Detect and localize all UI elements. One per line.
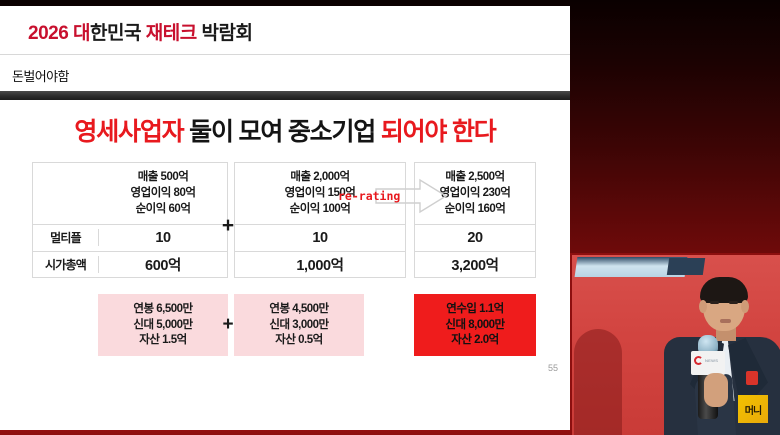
slide-heading-part-2: 중소기업 — [288, 118, 381, 146]
company-3-metric-2: 순이익 160억 — [445, 202, 506, 217]
highlight-2-line-0: 연봉 4,500만 — [269, 302, 328, 317]
slide-heading-part-3: 되어야 한다 — [381, 118, 496, 146]
company-1-metric-1: 영업이익 80억 — [131, 186, 196, 201]
highlight-boxes: 연봉 6,500만 신대 5,000만 자산 1.5억 + 연봉 4,500만 … — [32, 294, 536, 356]
highlight-1-line-1: 신대 5,000만 — [133, 318, 192, 333]
channel-logo: 머니 — [738, 395, 768, 423]
highlight-3-line-2: 자산 2.0억 — [451, 333, 498, 348]
company-1-metrics: 매출 500억 영업이익 80억 순이익 60억 — [33, 163, 227, 225]
event-title-part-4: 박람회 — [197, 23, 253, 44]
market-cap-row-3: 3,200억 — [415, 251, 535, 278]
market-cap-row-1: 시가총액 600억 — [33, 251, 227, 278]
slide-heading-part-1: 둘이 모여 — [189, 118, 288, 146]
highlight-box-2: 연봉 4,500만 신대 3,000만 자산 0.5억 — [234, 294, 364, 356]
microphone-flag-logo-icon — [694, 356, 703, 365]
highlight-box-3: 연수입 1.1억 신대 8,000만 자산 2.0억 — [414, 294, 536, 356]
multiple-row-1: 멀티플 10 — [33, 225, 227, 251]
channel-logo-text: 머니 — [745, 402, 761, 417]
row-label-market-cap: 시가총액 — [33, 256, 99, 273]
company-2-metric-0: 매출 2,000억 — [290, 170, 349, 185]
speaker-mouth — [720, 319, 731, 323]
company-2-market-cap: 1,000억 — [235, 254, 405, 275]
highlight-1-line-2: 자산 1.5억 — [139, 333, 186, 348]
highlight-box-1: 연봉 6,500만 신대 5,000만 자산 1.5억 — [98, 294, 228, 356]
company-3-metric-0: 매출 2,500억 — [445, 170, 504, 185]
speaker-ear-left — [699, 300, 707, 313]
highlight-3-line-0: 연수입 1.1억 — [446, 302, 504, 317]
multiple-row-2: 10 — [235, 225, 405, 251]
row-label-multiple: 멀티플 — [33, 229, 99, 246]
highlight-3-line-1: 신대 8,000만 — [445, 318, 504, 333]
company-3-market-cap: 3,200억 — [415, 254, 535, 275]
presentation-slide: 2026 대한민국 재테크 박람회 돈벌어야함 영세사업자 둘이 모여 중소기업… — [0, 6, 570, 430]
event-title-part-0: 2026 — [28, 23, 73, 44]
company-1-multiple: 10 — [99, 230, 227, 246]
comparison-table: 매출 500억 영업이익 80억 순이익 60억 멀티플 10 시가총액 600… — [32, 162, 536, 278]
highlight-2-line-1: 신대 3,000만 — [269, 318, 328, 333]
company-3-multiple: 20 — [415, 230, 535, 246]
stage-banner-secondary — [667, 258, 705, 275]
speaker-eye-right — [729, 301, 738, 304]
video-player-stage: 2026 대한민국 재테크 박람회 돈벌어야함 영세사업자 둘이 모여 중소기업… — [0, 0, 780, 435]
company-2-metric-2: 순이익 100억 — [290, 202, 351, 217]
dark-band-divider — [0, 91, 570, 100]
slide-heading: 영세사업자 둘이 모여 중소기업 되어야 한다 — [0, 112, 570, 148]
speaker-ear-right — [741, 300, 749, 313]
market-cap-row-2: 1,000억 — [235, 251, 405, 278]
slide-heading-part-0: 영세사업자 — [74, 118, 189, 146]
company-3-metric-1: 영업이익 230억 — [440, 186, 511, 201]
event-title-part-3: 재테크 — [146, 23, 197, 44]
company-1-metric-2: 순이익 60억 — [136, 202, 191, 217]
event-title: 2026 대한민국 재테크 박람회 — [28, 18, 252, 45]
sub-header-strip — [0, 55, 570, 91]
event-title-part-2: 한민국 — [90, 23, 146, 44]
microphone-flag-text: NEWS — [705, 358, 718, 363]
re-rating-label: re-rating — [338, 189, 400, 203]
speaker-picture-in-picture: NEWS 머니 — [570, 253, 780, 435]
company-2-multiple: 10 — [235, 230, 405, 246]
slide-page-number: 55 — [548, 363, 558, 373]
sub-header-label: 돈벌어야함 — [12, 66, 69, 85]
company-column-1: 매출 500억 영업이익 80억 순이익 60억 멀티플 10 시가총액 600… — [32, 162, 228, 278]
company-1-metric-0: 매출 500억 — [138, 170, 189, 185]
event-title-part-1: 대 — [73, 23, 90, 44]
highlight-2-line-2: 자산 0.5억 — [275, 333, 322, 348]
speaker-hand — [704, 373, 728, 407]
speaker-hair — [700, 277, 748, 303]
speaker-eye-left — [710, 301, 719, 304]
company-1-market-cap: 600억 — [99, 254, 227, 275]
speaker-badge — [746, 371, 758, 385]
multiple-row-3: 20 — [415, 225, 535, 251]
stage-shadow — [574, 329, 622, 435]
highlight-1-line-0: 연봉 6,500만 — [133, 302, 192, 317]
